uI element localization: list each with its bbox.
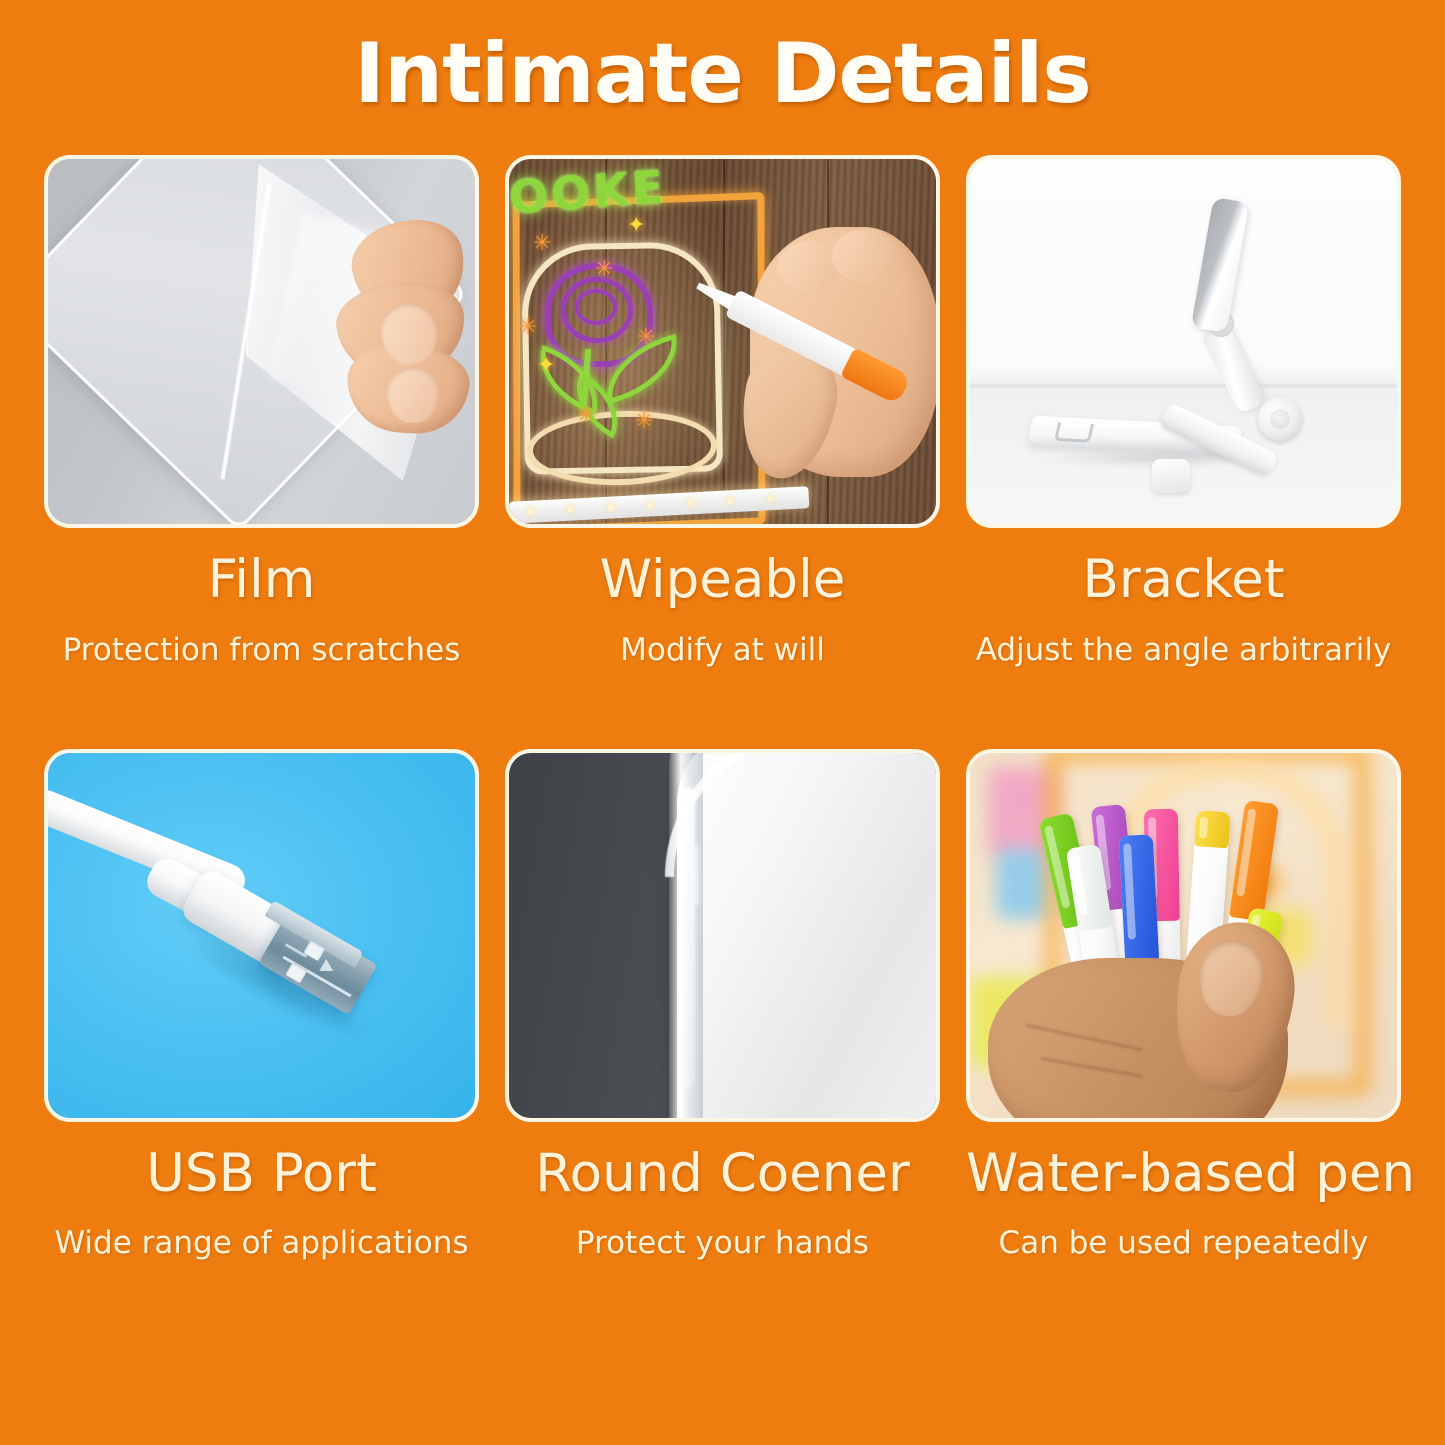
feature-subtitle: Adjust the angle arbitrarily — [966, 633, 1401, 667]
feature-title: Water-based pen — [966, 1146, 1401, 1202]
feature-card-usb-port: USB Port Wide range of applications — [44, 749, 479, 1261]
stand-base-notch — [1054, 422, 1094, 443]
sparkle-icon: ✳ — [635, 411, 653, 433]
feature-title: Film — [44, 552, 479, 608]
feature-title: Round Coener — [505, 1146, 940, 1202]
knuckle — [832, 229, 898, 283]
feature-card-film: Film Protection from scratches — [44, 155, 479, 667]
sparkle-icon: ✳ — [637, 327, 655, 349]
feature-card-round-coener: Round Coener Protect your hands — [505, 749, 940, 1261]
feature-subtitle: Wide range of applications — [44, 1226, 479, 1260]
page-title: Intimate Details — [0, 26, 1445, 121]
feature-title: USB Port — [44, 1146, 479, 1202]
feature-card-wipeable: OOKE ✦ ✳ ✳ ✳ ✳ ✦ ✳ ✳ — [505, 155, 940, 667]
feature-caption: Round Coener Protect your hands — [505, 1146, 940, 1261]
sparkle-icon: ✳ — [577, 405, 595, 427]
feature-caption: USB Port Wide range of applications — [44, 1146, 479, 1261]
hand — [323, 221, 475, 441]
infographic-page: Intimate Details — [0, 0, 1445, 1445]
feature-image-bracket — [966, 155, 1401, 528]
feature-caption: Wipeable Modify at will — [505, 552, 940, 667]
feature-title: Wipeable — [505, 552, 940, 608]
feature-subtitle: Modify at will — [505, 633, 940, 667]
led-dot — [647, 501, 654, 508]
feature-image-wipeable: OOKE ✦ ✳ ✳ ✳ ✳ ✦ ✳ ✳ — [505, 155, 940, 528]
edge-highlight — [681, 787, 695, 1087]
feature-title: Bracket — [966, 552, 1401, 608]
cap-highlight — [1199, 816, 1209, 839]
sparkle-icon: ✦ — [627, 215, 645, 237]
hand — [736, 215, 936, 524]
feature-image-water-based-pen — [966, 749, 1401, 1122]
horizon-line — [970, 385, 1397, 387]
feature-subtitle: Protection from scratches — [44, 633, 479, 667]
drawn-rose-center — [575, 289, 617, 325]
feature-caption: Water-based pen Can be used repeatedly — [966, 1146, 1401, 1261]
led-dot — [607, 503, 614, 510]
sparkle-icon: ✳ — [533, 233, 551, 255]
sparkle-icon: ✳ — [519, 317, 537, 339]
knuckle — [778, 241, 840, 291]
sparkle-icon: ✳ — [595, 259, 613, 281]
blurred-shape — [996, 849, 1052, 919]
stand-main-hinge — [1258, 397, 1302, 441]
stand-foot — [1152, 459, 1190, 493]
feature-caption: Bracket Adjust the angle arbitrarily — [966, 552, 1401, 667]
led-dot — [727, 497, 734, 504]
led-dot — [527, 508, 534, 515]
specular-highlight — [693, 845, 699, 905]
feature-caption: Film Protection from scratches — [44, 552, 479, 667]
feature-subtitle: Protect your hands — [505, 1226, 940, 1260]
led-dot — [567, 505, 574, 512]
hand — [988, 918, 1318, 1118]
feature-image-film — [44, 155, 479, 528]
led-dot — [687, 499, 694, 506]
sparkle-icon: ✦ — [537, 355, 555, 377]
feature-image-round-coener — [505, 749, 940, 1122]
feature-subtitle: Can be used repeatedly — [966, 1226, 1401, 1260]
feature-card-water-based-pen: Water-based pen Can be used repeatedly — [966, 749, 1401, 1261]
feature-image-usb-port — [44, 749, 479, 1122]
feature-grid: Film Protection from scratches — [44, 155, 1402, 1260]
feature-card-bracket: Bracket Adjust the angle arbitrarily — [966, 155, 1401, 667]
